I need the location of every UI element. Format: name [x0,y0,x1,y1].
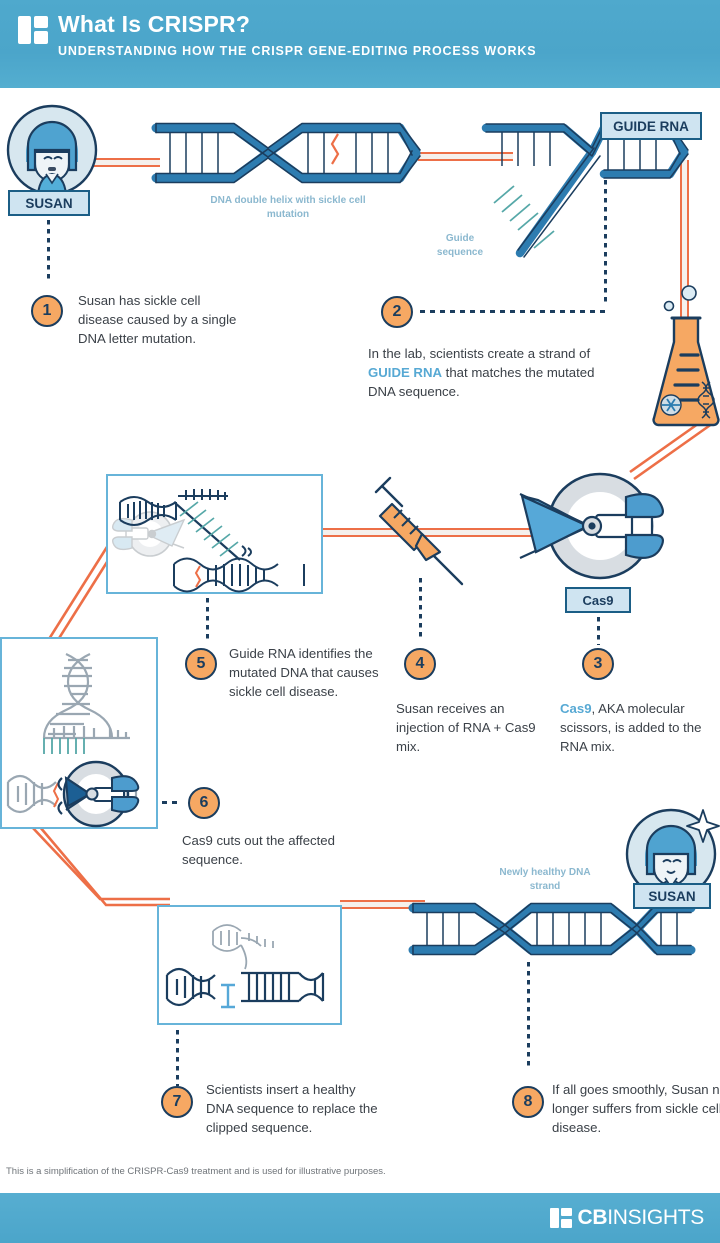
step-text-4: Susan receives an injection of RNA + Cas… [396,700,546,757]
step-number-6: 6 [188,787,220,819]
lab-flask-icon [650,286,720,441]
step-number-2: 2 [381,296,413,328]
step-number-3: 3 [582,648,614,680]
leader-line [597,617,600,645]
page-title: What Is CRISPR? [58,11,250,38]
step-number-7: 7 [161,1086,193,1118]
leader-line [604,180,607,305]
susan-avatar-start [6,104,98,196]
step-text-5: Guide RNA identifies the mutated DNA tha… [229,645,384,702]
step-number-1: 1 [31,295,63,327]
leader-line [162,801,182,804]
step-number-4: 4 [404,648,436,680]
caption-healthy-strand: Newly healthy DNA strand [490,866,600,893]
leader-line [527,962,530,1067]
brand-insights: INSIGHTS [607,1206,704,1230]
step-text-2: In the lab, scientists create a strand o… [368,345,603,402]
step2-text-before: In the lab, scientists create a strand o… [368,346,590,361]
step3-highlight: Cas9 [560,701,592,716]
leader-line [419,578,422,638]
guide-rna-binding-diagram [112,480,318,590]
leader-line [47,220,50,282]
susan-label-start: SUSAN [8,190,90,216]
step-number-5: 5 [185,648,217,680]
caption-guide-sequence: Guide sequence [424,232,496,259]
page-footer: CBINSIGHTS [0,1193,720,1243]
cbinsights-mark-icon [18,16,48,44]
leader-line [420,310,608,313]
caption-dna-helix: DNA double helix with sickle cell mutati… [208,194,368,221]
disclaimer-text: This is a simplification of the CRISPR-C… [6,1166,386,1177]
step-text-3: Cas9, AKA molecular scissors, is added t… [560,700,720,757]
cbinsights-mark-icon [550,1208,572,1228]
page-header: What Is CRISPR? UNDERSTANDING HOW THE CR… [0,0,720,88]
step-number-8: 8 [512,1086,544,1118]
cas9-scissors-icon [528,466,678,596]
step2-highlight: GUIDE RNA [368,365,442,380]
cas9-cutting-diagram [4,642,156,826]
footer-brand-logo: CBINSIGHTS [550,1207,704,1229]
leader-line [176,1030,179,1086]
syringe-icon [370,480,480,590]
step-text-6: Cas9 cuts out the affected sequence. [182,832,352,870]
step-text-1: Susan has sickle cell disease caused by … [78,292,238,349]
brand-cb: CB [577,1206,607,1230]
leader-line [206,598,209,642]
step-text-7: Scientists insert a healthy DNA sequence… [206,1081,386,1138]
cas9-label: Cas9 [565,587,631,613]
healthy-dna-insert-diagram [163,911,337,1021]
susan-label-end: SUSAN [633,883,711,909]
step-text-8: If all goes smoothly, Susan no longer su… [552,1081,720,1138]
dna-double-helix-mutated [148,108,423,198]
infographic-page: What Is CRISPR? UNDERSTANDING HOW THE CR… [0,0,720,1243]
page-subtitle: UNDERSTANDING HOW THE CRISPR GENE-EDITIN… [58,44,536,58]
guide-rna-label: GUIDE RNA [600,112,702,140]
